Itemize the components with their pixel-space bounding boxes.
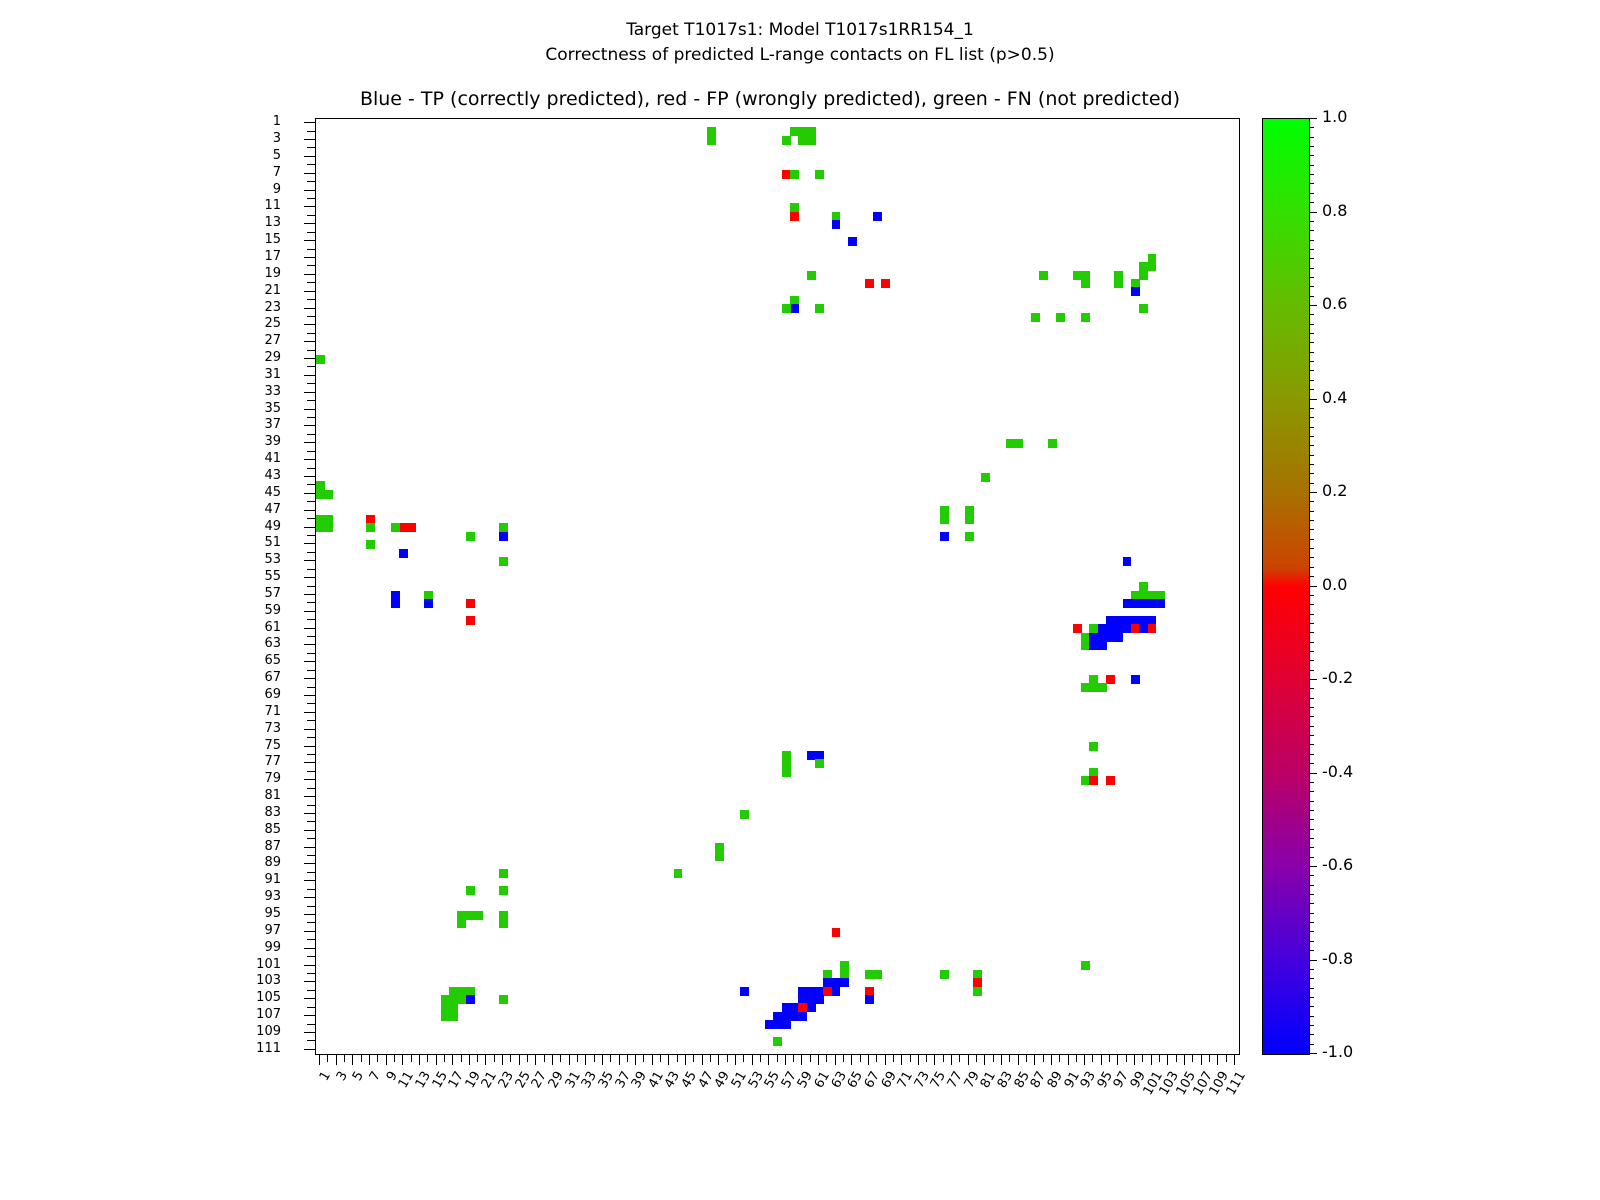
colorbar-minor-tick (1309, 1044, 1314, 1045)
y-tick (307, 670, 315, 671)
colorbar-minor-tick (1309, 997, 1314, 998)
y-tick (304, 1015, 315, 1016)
y-tick (304, 897, 315, 898)
contact-cell-tp (1131, 675, 1140, 684)
contact-cell-fp (881, 279, 890, 288)
y-tick-label: 91 (221, 874, 281, 885)
x-tick (1109, 1054, 1110, 1062)
y-tick (304, 442, 315, 443)
y-tick (307, 501, 315, 502)
y-tick-label: 51 (221, 537, 281, 548)
y-tick (304, 341, 315, 342)
colorbar-tick-label: 1.0 (1322, 110, 1347, 124)
y-tick (307, 265, 315, 266)
y-tick-label: 55 (221, 571, 281, 582)
colorbar-minor-tick (1309, 286, 1314, 287)
contact-cell-fn (782, 768, 791, 777)
x-tick (494, 1054, 495, 1062)
colorbar-tick (1309, 399, 1317, 400)
colorbar-tick-label: 0.4 (1322, 391, 1347, 405)
colorbar-minor-tick (1309, 314, 1314, 315)
colorbar-tick (1309, 305, 1317, 306)
y-tick-label: 87 (221, 841, 281, 852)
y-tick-label: 31 (221, 369, 281, 380)
x-tick (951, 1054, 952, 1065)
x-tick (843, 1054, 844, 1062)
x-tick (943, 1054, 944, 1062)
y-tick (304, 493, 315, 494)
colorbar-minor-tick (1309, 146, 1314, 147)
colorbar-minor-tick (1309, 520, 1314, 521)
contact-cell-tp (1098, 641, 1107, 650)
colorbar-minor-tick (1309, 539, 1314, 540)
y-tick-label: 45 (221, 487, 281, 498)
colorbar-minor-tick (1309, 408, 1314, 409)
x-tick (436, 1054, 437, 1065)
y-tick (304, 880, 315, 881)
x-tick (1226, 1054, 1227, 1062)
x-tick (402, 1054, 403, 1065)
colorbar-minor-tick (1309, 688, 1314, 689)
colorbar-gradient[interactable] (1262, 118, 1310, 1055)
y-tick (304, 931, 315, 932)
y-tick (307, 518, 315, 519)
y-tick-label: 101 (221, 959, 281, 970)
colorbar-minor-tick (1309, 455, 1314, 456)
colorbar-minor-tick (1309, 202, 1314, 203)
colorbar-tick-label: 0.8 (1322, 204, 1347, 218)
x-tick (685, 1054, 686, 1065)
y-tick (304, 1032, 315, 1033)
colorbar-minor-tick (1309, 894, 1314, 895)
contact-cell-fp (865, 279, 874, 288)
contact-cell-fp (790, 212, 799, 221)
y-tick (304, 156, 315, 157)
y-tick (307, 316, 315, 317)
contact-cell-fn (366, 540, 375, 549)
x-tick (1051, 1054, 1052, 1065)
y-tick-label: 25 (221, 318, 281, 329)
y-tick-label: 17 (221, 251, 281, 262)
x-tick (918, 1054, 919, 1065)
y-tick (307, 299, 315, 300)
x-tick (1192, 1054, 1193, 1062)
x-tick (1026, 1054, 1027, 1062)
x-tick (1084, 1054, 1085, 1065)
colorbar-minor-tick (1309, 707, 1314, 708)
contact-cell-tp (391, 599, 400, 608)
y-tick (304, 644, 315, 645)
y-tick (307, 805, 315, 806)
contact-cell-fn (965, 515, 974, 524)
y-tick (307, 552, 315, 553)
y-tick (304, 308, 315, 309)
x-tick (527, 1054, 528, 1062)
colorbar-minor-tick (1309, 670, 1314, 671)
colorbar-tick (1309, 118, 1317, 119)
y-tick (307, 821, 315, 822)
x-tick (727, 1054, 728, 1062)
x-tick (585, 1054, 586, 1065)
x-tick (344, 1054, 345, 1062)
contact-cell-fn (1114, 279, 1123, 288)
y-tick (304, 358, 315, 359)
contact-cell-fn (1139, 271, 1148, 280)
contact-cell-fn (499, 886, 508, 895)
contact-map-plot-area[interactable] (315, 118, 1240, 1055)
colorbar-minor-tick (1309, 604, 1314, 605)
contact-cell-tp (1114, 633, 1123, 642)
colorbar-minor-tick (1309, 137, 1314, 138)
x-tick (910, 1054, 911, 1062)
contact-cell-fn (499, 919, 508, 928)
x-tick (552, 1054, 553, 1065)
colorbar-minor-tick (1309, 1016, 1314, 1017)
contact-cell-fn (499, 869, 508, 878)
colorbar-tick (1309, 1053, 1317, 1054)
colorbar-minor-tick (1309, 1006, 1314, 1007)
x-tick (1217, 1054, 1218, 1065)
contact-cell-fn (973, 987, 982, 996)
contact-cell-fn (324, 490, 333, 499)
x-tick (1134, 1054, 1135, 1065)
x-tick (419, 1054, 420, 1065)
y-tick (304, 409, 315, 410)
colorbar-minor-tick (1309, 483, 1314, 484)
y-tick (304, 139, 315, 140)
x-tick (1018, 1054, 1019, 1065)
y-tick (307, 619, 315, 620)
contact-cell-fn (1089, 742, 1098, 751)
x-tick (627, 1054, 628, 1062)
y-tick-label: 5 (221, 150, 281, 161)
y-tick (307, 973, 315, 974)
colorbar-minor-tick (1309, 595, 1314, 596)
contact-cell-fn (940, 970, 949, 979)
x-tick (361, 1054, 362, 1062)
y-tick (307, 249, 315, 250)
y-tick (307, 754, 315, 755)
x-tick (1184, 1054, 1185, 1065)
x-tick (560, 1054, 561, 1062)
colorbar-tick-label: 0.6 (1322, 297, 1347, 311)
y-tick-label: 79 (221, 773, 281, 784)
colorbar-minor-tick (1309, 660, 1314, 661)
contact-cell-fn (1081, 961, 1090, 970)
contact-cell-tp (1131, 287, 1140, 296)
y-tick (307, 720, 315, 721)
y-tick (304, 324, 315, 325)
colorbar-minor-tick (1309, 427, 1314, 428)
y-tick-label: 85 (221, 824, 281, 835)
contact-cell-tp (832, 220, 841, 229)
x-tick (569, 1054, 570, 1065)
contact-cell-fn (366, 523, 375, 532)
x-tick (336, 1054, 337, 1065)
colorbar-minor-tick (1309, 716, 1314, 717)
y-tick-label: 105 (221, 992, 281, 1003)
colorbar-minor-tick (1309, 847, 1314, 848)
y-tick-label: 39 (221, 436, 281, 447)
x-tick (785, 1054, 786, 1065)
x-tick (801, 1054, 802, 1065)
y-tick (304, 1049, 315, 1050)
x-tick (710, 1054, 711, 1062)
y-tick-label: 81 (221, 790, 281, 801)
y-tick-label: 1 (221, 116, 281, 127)
y-tick-label: 103 (221, 975, 281, 986)
x-tick (1101, 1054, 1102, 1065)
y-tick (307, 451, 315, 452)
y-tick (304, 560, 315, 561)
y-tick (307, 333, 315, 334)
contact-cell-fn (391, 523, 400, 532)
colorbar-minor-tick (1309, 473, 1314, 474)
y-tick-label: 83 (221, 807, 281, 818)
y-tick-label: 9 (221, 184, 281, 195)
y-tick-label: 47 (221, 504, 281, 515)
colorbar-minor-tick (1309, 230, 1314, 231)
contact-cell-fn (782, 304, 791, 313)
x-tick (901, 1054, 902, 1065)
colorbar-tick-label: -1.0 (1322, 1045, 1353, 1059)
y-tick (304, 863, 315, 864)
colorbar-minor-tick (1309, 931, 1314, 932)
y-tick (307, 282, 315, 283)
colorbar-minor-tick (1309, 819, 1314, 820)
x-tick (319, 1054, 320, 1065)
contact-cell-fn (815, 304, 824, 313)
x-tick (777, 1054, 778, 1062)
x-tick (1092, 1054, 1093, 1062)
y-tick-label: 37 (221, 419, 281, 430)
contact-cell-fn (499, 995, 508, 1004)
x-tick (735, 1054, 736, 1065)
contact-cell-fn (873, 970, 882, 979)
contact-cell-fn (807, 271, 816, 280)
colorbar-minor-tick (1309, 744, 1314, 745)
colorbar-minor-tick (1309, 361, 1314, 362)
colorbar-minor-tick (1309, 240, 1314, 241)
y-tick-label: 75 (221, 740, 281, 751)
x-tick (868, 1054, 869, 1065)
x-tick (1117, 1054, 1118, 1065)
contact-cell-tp (1156, 599, 1165, 608)
y-tick (307, 215, 315, 216)
y-tick-label: 71 (221, 706, 281, 717)
y-tick (304, 274, 315, 275)
colorbar-tick-label: 0.2 (1322, 484, 1347, 498)
x-tick (810, 1054, 811, 1062)
x-tick (1151, 1054, 1152, 1065)
y-tick (304, 190, 315, 191)
colorbar-tick-label: -0.8 (1322, 952, 1353, 966)
y-tick (304, 813, 315, 814)
x-tick (652, 1054, 653, 1065)
contact-cell-fn (940, 515, 949, 524)
y-tick-label: 21 (221, 285, 281, 296)
contact-cell-tp (807, 1003, 816, 1012)
colorbar-minor-tick (1309, 838, 1314, 839)
x-tick (635, 1054, 636, 1065)
colorbar-minor-tick (1309, 548, 1314, 549)
y-tick (304, 762, 315, 763)
y-tick-label: 61 (221, 622, 281, 633)
contact-cell-fn (1081, 279, 1090, 288)
x-tick (959, 1054, 960, 1062)
colorbar-minor-tick (1309, 445, 1314, 446)
x-tick (893, 1054, 894, 1062)
y-tick-label: 73 (221, 723, 281, 734)
colorbar-minor-tick (1309, 623, 1314, 624)
y-tick (304, 543, 315, 544)
colorbar-minor-tick (1309, 557, 1314, 558)
x-tick (411, 1054, 412, 1062)
y-tick (307, 636, 315, 637)
contact-cell-fp (1148, 624, 1157, 633)
y-tick (304, 257, 315, 258)
contact-cell-fn (1048, 439, 1057, 448)
y-tick (307, 838, 315, 839)
contact-cell-fn (474, 911, 483, 920)
y-tick (307, 788, 315, 789)
x-tick (851, 1054, 852, 1065)
contact-cell-fn (782, 136, 791, 145)
y-tick (307, 956, 315, 957)
colorbar-minor-tick (1309, 810, 1314, 811)
y-tick-label: 95 (221, 908, 281, 919)
y-tick (304, 746, 315, 747)
y-tick (304, 173, 315, 174)
y-tick (307, 653, 315, 654)
contact-cell-fn (707, 136, 716, 145)
x-tick (1176, 1054, 1177, 1062)
x-tick (660, 1054, 661, 1062)
y-tick (307, 687, 315, 688)
x-tick (1167, 1054, 1168, 1065)
y-tick (304, 476, 315, 477)
colorbar-minor-tick (1309, 763, 1314, 764)
y-tick (304, 375, 315, 376)
contact-cell-fn (790, 170, 799, 179)
y-tick-label: 67 (221, 672, 281, 683)
y-tick (307, 484, 315, 485)
x-tick (1001, 1054, 1002, 1065)
contact-cell-tp (740, 987, 749, 996)
y-tick-label: 109 (221, 1026, 281, 1037)
y-tick (304, 577, 315, 578)
x-tick (835, 1054, 836, 1065)
y-tick (307, 771, 315, 772)
colorbar-minor-tick (1309, 277, 1314, 278)
y-tick (304, 796, 315, 797)
x-tick (327, 1054, 328, 1062)
y-tick-label: 99 (221, 942, 281, 953)
x-tick (976, 1054, 977, 1062)
contact-cell-fp (1089, 776, 1098, 785)
colorbar-minor-tick (1309, 941, 1314, 942)
colorbar-minor-tick (1309, 464, 1314, 465)
x-tick (1159, 1054, 1160, 1062)
colorbar-minor-tick (1309, 342, 1314, 343)
x-tick (752, 1054, 753, 1065)
colorbar-minor-tick (1309, 875, 1314, 876)
y-tick (304, 965, 315, 966)
contact-cell-tp (399, 549, 408, 558)
x-tick (743, 1054, 744, 1062)
contact-cell-fp (1106, 776, 1115, 785)
y-tick (304, 948, 315, 949)
contact-cell-fn (790, 127, 799, 136)
y-tick (307, 350, 315, 351)
colorbar-minor-tick (1309, 642, 1314, 643)
contact-cell-tp (790, 304, 799, 313)
colorbar-minor-tick (1309, 268, 1314, 269)
colorbar-minor-tick (1309, 127, 1314, 128)
colorbar-minor-tick (1309, 988, 1314, 989)
contact-cell-fn (740, 810, 749, 819)
x-tick (1234, 1054, 1235, 1065)
colorbar-tick-label: 0.0 (1322, 578, 1347, 592)
colorbar-minor-tick (1309, 801, 1314, 802)
x-tick (1201, 1054, 1202, 1065)
y-tick (307, 131, 315, 132)
contact-cell-tp (848, 237, 857, 246)
contact-cell-fn (499, 557, 508, 566)
colorbar-minor-tick (1309, 296, 1314, 297)
y-tick (304, 392, 315, 393)
contact-cell-fp (407, 523, 416, 532)
x-tick (718, 1054, 719, 1065)
colorbar-minor-tick (1309, 417, 1314, 418)
y-tick (304, 695, 315, 696)
y-tick (307, 366, 315, 367)
colorbar-minor-tick (1309, 529, 1314, 530)
x-tick (461, 1054, 462, 1062)
y-tick (307, 872, 315, 873)
contact-cell-fn (981, 473, 990, 482)
colorbar-minor-tick (1309, 791, 1314, 792)
axes-title-legend: Blue - TP (correctly predicted), red - F… (0, 88, 1540, 110)
x-tick (993, 1054, 994, 1062)
contact-cell-fn (1014, 439, 1023, 448)
colorbar-minor-tick (1309, 614, 1314, 615)
y-tick (307, 855, 315, 856)
contact-cell-tp (940, 532, 949, 541)
colorbar-tick-label: -0.6 (1322, 858, 1353, 872)
colorbar-tick (1309, 960, 1317, 961)
x-tick (968, 1054, 969, 1065)
contact-cell-fn (1056, 313, 1065, 322)
x-tick (760, 1054, 761, 1062)
y-tick-label: 53 (221, 554, 281, 565)
colorbar-minor-tick (1309, 193, 1314, 194)
colorbar-minor-tick (1309, 501, 1314, 502)
contact-cell-fp (466, 616, 475, 625)
colorbar-tick (1309, 212, 1317, 213)
x-tick (1034, 1054, 1035, 1065)
x-tick (768, 1054, 769, 1065)
x-tick (1068, 1054, 1069, 1065)
contact-cell-tp (424, 599, 433, 608)
contact-cell-fn (466, 532, 475, 541)
x-tick (394, 1054, 395, 1062)
x-tick (452, 1054, 453, 1065)
x-tick (444, 1054, 445, 1062)
y-tick (307, 1040, 315, 1041)
contact-cell-fn (815, 759, 824, 768)
colorbar-minor-tick (1309, 183, 1314, 184)
